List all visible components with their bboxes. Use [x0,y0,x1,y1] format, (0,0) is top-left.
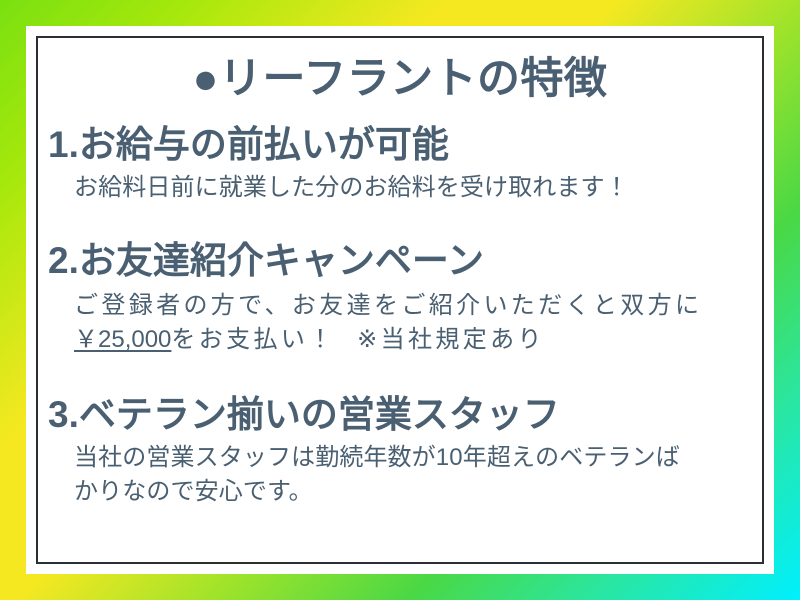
feature-list: 1.お給与の前払いが可能 お給料日前に就業した分のお給料を受け取れます！ 2.お… [36,125,764,509]
list-item-feature-1: 1.お給与の前払いが可能 お給料日前に就業した分のお給料を受け取れます！ [36,125,764,205]
feature-2-body-line-2: ￥25,000をお支払い！※当社規定あり [74,323,764,357]
feature-3-body-line-1: 当社の営業スタッフは勤続年数が10年超えのベテランば [74,441,764,475]
list-item-feature-2: 2.お友達紹介キャンペーン ご登録者の方で、お友達をご紹介いただくと双方に ￥2… [36,241,764,357]
slide-root: ●リーフラントの特徴 1.お給与の前払いが可能 お給料日前に就業した分のお給料を… [0,0,800,600]
feature-2-heading: 2.お友達紹介キャンペーン [48,241,764,281]
list-item-feature-3: 3.ベテラン揃いの営業スタッフ 当社の営業スタッフは勤続年数が10年超えのベテラ… [36,395,764,509]
page-title: ●リーフラントの特徴 [36,36,764,101]
feature-2-body: ご登録者の方で、お友達をご紹介いただくと双方に ￥25,000をお支払い！※当社… [74,289,764,357]
referral-amount: ￥25,000 [74,326,171,353]
feature-1-heading: 1.お給与の前払いが可能 [48,125,764,165]
referral-note: ※当社規定あり [357,326,545,353]
slide-content: ●リーフラントの特徴 1.お給与の前払いが可能 お給料日前に就業した分のお給料を… [36,36,764,564]
feature-3-heading: 3.ベテラン揃いの営業スタッフ [48,395,764,435]
feature-3-body-line-2: かりなので安心です。 [74,475,764,509]
feature-3-body: 当社の営業スタッフは勤続年数が10年超えのベテランば かりなので安心です。 [74,441,764,509]
feature-1-body: お給料日前に就業した分のお給料を受け取れます！ [74,171,764,205]
referral-amount-suffix: をお支払い！ [171,326,335,353]
feature-2-body-line-1: ご登録者の方で、お友達をご紹介いただくと双方に [74,289,764,323]
feature-1-body-line-1: お給料日前に就業した分のお給料を受け取れます！ [74,171,764,205]
